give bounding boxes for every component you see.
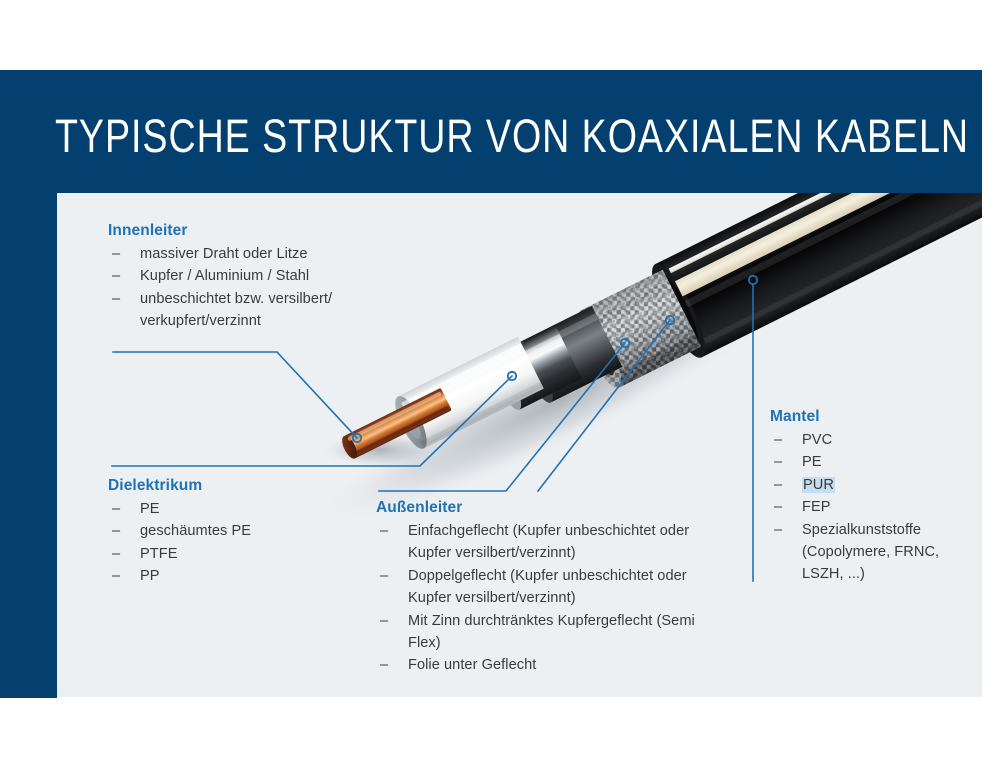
- aussenleiter-heading: Außenleiter: [376, 497, 726, 518]
- mantel-heading: Mantel: [770, 406, 970, 427]
- bullet-dash: –: [380, 610, 388, 632]
- bullet-dash: –: [112, 265, 120, 287]
- page-title: TYPISCHE STRUKTUR VON KOAXIALEN KABELN: [55, 110, 775, 162]
- callout-dielektrikum: Dielektrikum –PE –geschäumtes PE –PTFE –…: [108, 475, 388, 588]
- selected-text-highlight: PUR: [802, 477, 835, 493]
- bullet-dash: –: [112, 520, 120, 542]
- list-item: –Einfachgeflecht (Kupfer unbeschichtet o…: [376, 520, 726, 565]
- callout-aussenleiter: Außenleiter –Einfachgeflecht (Kupfer unb…: [376, 497, 726, 677]
- innenleiter-list: –massiver Draht oder Litze –Kupfer / Alu…: [108, 243, 438, 333]
- list-item: –PTFE: [108, 543, 388, 565]
- bullet-dash: –: [774, 519, 782, 541]
- list-item: –PE: [770, 451, 970, 473]
- list-item: –Folie unter Geflecht: [376, 654, 726, 676]
- list-item: –PP: [108, 565, 388, 587]
- slide-root: TYPISCHE STRUKTUR VON KOAXIALEN KABELN: [0, 0, 1000, 782]
- list-item: –geschäumtes PE: [108, 520, 388, 542]
- bullet-dash: –: [112, 565, 120, 587]
- list-item-selected: –PUR: [770, 474, 970, 496]
- list-item: –PE: [108, 498, 388, 520]
- bullet-dash: –: [774, 429, 782, 451]
- callout-innenleiter: Innenleiter –massiver Draht oder Litze –…: [108, 220, 438, 333]
- innenleiter-heading: Innenleiter: [108, 220, 438, 241]
- list-item: –Doppelgeflecht (Kupfer unbeschichtet od…: [376, 565, 726, 610]
- dielektrikum-heading: Dielektrikum: [108, 475, 388, 496]
- list-item: –Spezialkunststoffe (Copolymere, FRNC, L…: [770, 519, 970, 586]
- list-item: –massiver Draht oder Litze: [108, 243, 438, 265]
- list-item: –Kupfer / Aluminium / Stahl: [108, 265, 438, 287]
- bullet-dash: –: [774, 451, 782, 473]
- aussenleiter-list: –Einfachgeflecht (Kupfer unbeschichtet o…: [376, 520, 726, 677]
- bullet-dash: –: [774, 474, 782, 496]
- bullet-dash: –: [380, 520, 388, 542]
- list-item: –FEP: [770, 496, 970, 518]
- bullet-dash: –: [112, 243, 120, 265]
- mantel-list: –PVC –PE –PUR –FEP –Spezialkunststoffe (…: [770, 429, 970, 586]
- callout-mantel: Mantel –PVC –PE –PUR –FEP –Spezialkunsts…: [770, 406, 970, 586]
- bullet-dash: –: [112, 288, 120, 310]
- bullet-dash: –: [112, 543, 120, 565]
- navy-left-rail: [0, 70, 57, 698]
- bullet-dash: –: [774, 496, 782, 518]
- dielektrikum-list: –PE –geschäumtes PE –PTFE –PP: [108, 498, 388, 588]
- list-item: –Mit Zinn durchtränktes Kupfergeflecht (…: [376, 610, 726, 655]
- bullet-dash: –: [380, 565, 388, 587]
- bullet-dash: –: [380, 654, 388, 676]
- list-item: –PVC: [770, 429, 970, 451]
- bullet-dash: –: [112, 498, 120, 520]
- list-item: –unbeschichtet bzw. versilbert/ verkupfe…: [108, 288, 438, 333]
